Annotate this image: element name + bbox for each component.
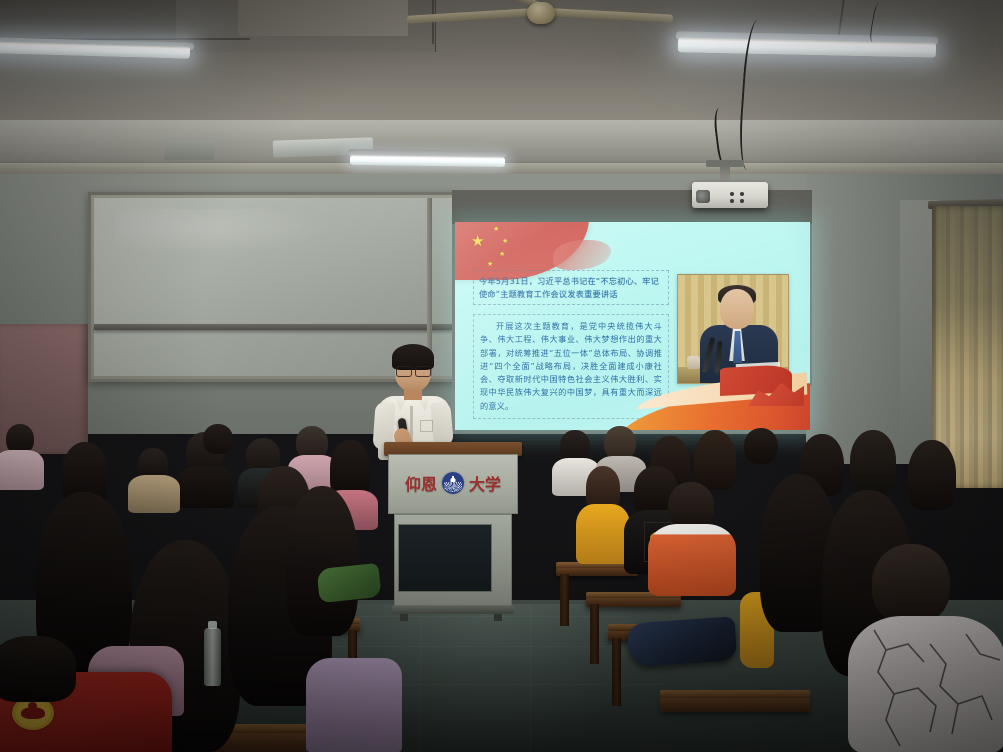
podium-text-left: 仰恩 — [405, 471, 437, 495]
fan-blade — [547, 8, 673, 23]
ceiling-projector — [692, 182, 768, 208]
audience-head — [203, 424, 233, 454]
audience-head — [604, 426, 636, 460]
audience-head — [872, 544, 950, 624]
audience-hair — [694, 430, 736, 490]
slide-title-text: 今年5月31日，习近平总书记在“不忘初心、牢记使命”主题教育工作会议发表重要讲话 — [479, 275, 663, 300]
audience-body — [648, 524, 736, 596]
flag-star-icon: ★ — [487, 261, 493, 268]
audience-body — [178, 466, 234, 508]
green-bag-on-desk — [316, 563, 381, 603]
whiteboard-rail — [94, 324, 452, 330]
desk-leg — [612, 638, 621, 706]
audience-hair — [286, 486, 358, 636]
audience-head — [668, 482, 714, 530]
podium-dark-panel — [398, 524, 492, 592]
purple-shirt-student — [306, 658, 402, 752]
ceiling-panel — [238, 0, 408, 36]
lectern-podium: 仰恩 大学 — [388, 452, 518, 622]
desk-leg — [560, 574, 569, 626]
projector-indicator — [730, 192, 734, 196]
flag-star-icon: ★ — [502, 238, 508, 245]
fluorescent-tube-light — [350, 155, 505, 167]
audience-body — [128, 475, 180, 513]
podium-text-right: 大学 — [469, 471, 501, 495]
projector-indicator — [740, 192, 744, 196]
slide-body-block: 开展这次主题教育，是党中央统揽伟大斗争、伟大工程、伟大事业、伟大梦想作出的重大部… — [473, 314, 669, 419]
podium-foot — [494, 614, 502, 621]
fan-blade — [407, 8, 535, 24]
audience-hair — [908, 440, 956, 510]
flag-star-icon: ★ — [499, 251, 505, 258]
projector-indicator — [740, 199, 744, 203]
fan-hub — [527, 2, 555, 24]
presenter-shirt-pocket — [420, 420, 433, 432]
projector-lens-icon — [696, 190, 710, 203]
audience-body — [0, 450, 44, 490]
presenter-arm — [430, 401, 454, 447]
desk — [586, 598, 681, 607]
projector-indicator — [730, 199, 734, 203]
slide-body-text: 开展这次主题教育，是党中央统揽伟大斗争、伟大工程、伟大事业、伟大梦想作出的重大部… — [480, 320, 662, 413]
audience-hair — [850, 430, 896, 494]
audience-body — [576, 504, 630, 564]
podium-foot — [400, 614, 408, 621]
podium-branding: 仰恩 大学 — [388, 470, 518, 496]
ceiling-fan — [415, 0, 665, 38]
audience-head — [744, 428, 778, 464]
bottle-cap — [208, 621, 217, 629]
desk-leg — [590, 604, 599, 664]
audience-head — [0, 636, 76, 702]
whiteboard-glare — [115, 209, 330, 255]
glasses-icon — [395, 366, 432, 375]
podium-base — [392, 606, 514, 614]
flag-star-icon: ★ — [493, 226, 499, 233]
flag-star-icon: ★ — [471, 234, 484, 249]
lecture-hall-photo: 203 ★ ★ ★ ★ ★ 今年5月31日，习近平总书记在“不忘初心、牢记使命”… — [0, 0, 1003, 752]
left-wall — [0, 176, 92, 326]
photo-person-head — [720, 289, 754, 329]
desk — [660, 698, 810, 712]
ceiling-vent — [164, 140, 216, 160]
shirt-pattern — [856, 624, 1003, 752]
yangen-university-sunburst-emblem — [442, 472, 464, 494]
water-bottle — [204, 628, 221, 686]
photo-teacup — [687, 356, 700, 369]
navy-bag-on-desk — [627, 616, 738, 667]
slide-title-block: 今年5月31日，习近平总书记在“不忘初心、牢记使命”主题教育工作会议发表重要讲话 — [473, 270, 669, 305]
projection-screen: ★ ★ ★ ★ ★ 今年5月31日，习近平总书记在“不忘初心、牢记使命”主题教育… — [455, 222, 810, 430]
